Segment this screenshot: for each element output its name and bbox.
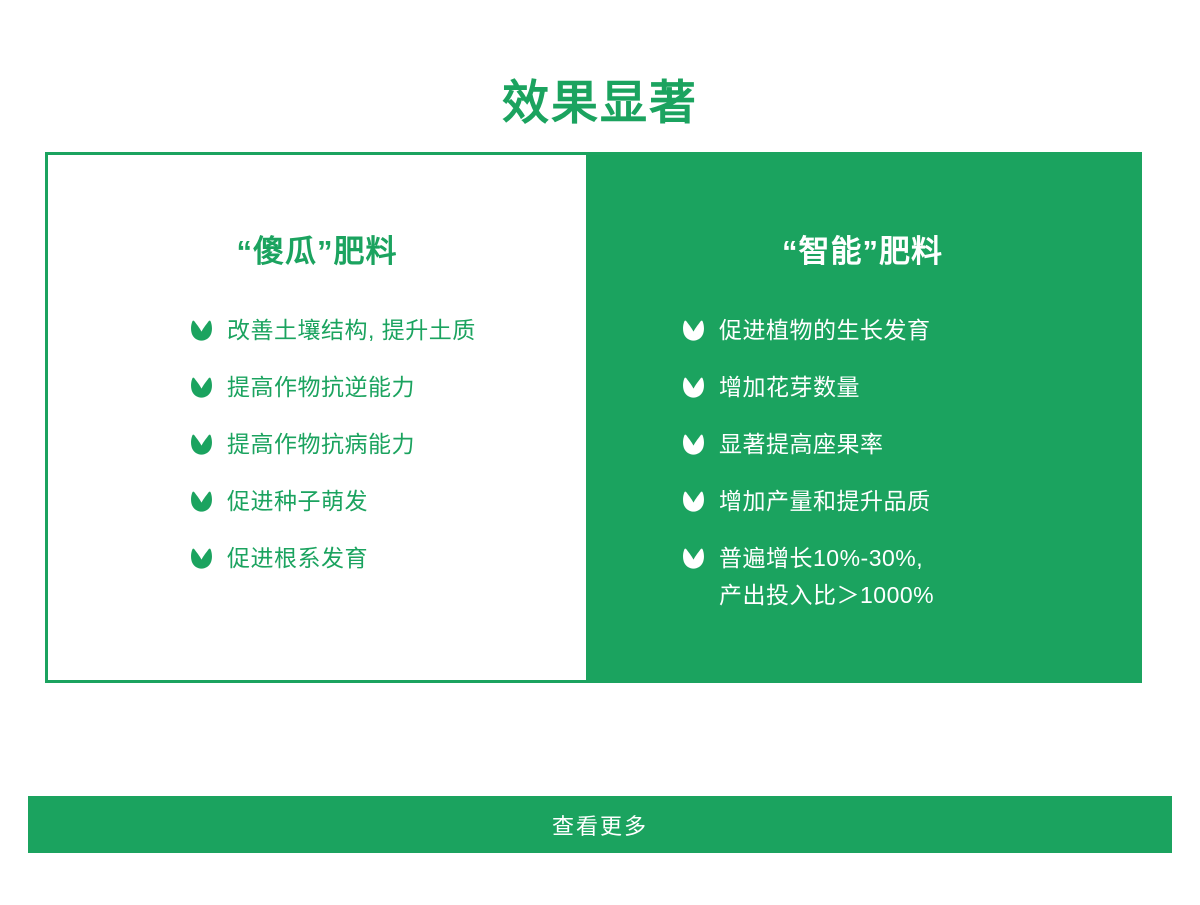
list-item: 增加产量和提升品质 xyxy=(681,483,1139,520)
leaf-icon xyxy=(189,318,214,343)
list-item: 促进根系发育 xyxy=(189,540,586,577)
leaf-icon xyxy=(189,489,214,514)
list-item-label: 提高作物抗病能力 xyxy=(227,426,415,463)
list-item-label: 提高作物抗逆能力 xyxy=(227,369,415,406)
list-item: 改善土壤结构, 提升土质 xyxy=(189,312,586,349)
list-item-label: 普遍增长10%-30%, 产出投入比＞1000% xyxy=(719,540,934,614)
left-panel-benefit-list: 改善土壤结构, 提升土质 提高作物抗逆能力 提高作物抗病能力 促进种子萌发 xyxy=(48,312,586,577)
list-item: 增加花芽数量 xyxy=(681,369,1139,406)
list-item-label: 促进植物的生长发育 xyxy=(719,312,931,349)
list-item-label: 显著提高座果率 xyxy=(719,426,884,463)
panel-smart-fertilizer: “智能”肥料 促进植物的生长发育 增加花芽数量 显著提高座果率 xyxy=(586,155,1139,680)
view-more-label: 查看更多 xyxy=(552,809,648,841)
leaf-icon xyxy=(681,432,706,457)
panel-dumb-fertilizer: “傻瓜”肥料 改善土壤结构, 提升土质 提高作物抗逆能力 提高作物抗病能力 xyxy=(48,155,586,680)
leaf-icon xyxy=(681,375,706,400)
list-item-label: 增加花芽数量 xyxy=(719,369,860,406)
list-item: 显著提高座果率 xyxy=(681,426,1139,463)
leaf-icon xyxy=(681,318,706,343)
list-item: 提高作物抗病能力 xyxy=(189,426,586,463)
right-panel-benefit-list: 促进植物的生长发育 增加花芽数量 显著提高座果率 增加产量和提升品质 xyxy=(586,312,1139,614)
leaf-icon xyxy=(189,546,214,571)
view-more-button[interactable]: 查看更多 xyxy=(28,796,1172,853)
list-item-label: 促进种子萌发 xyxy=(227,483,368,520)
leaf-icon xyxy=(189,375,214,400)
comparison-card: “傻瓜”肥料 改善土壤结构, 提升土质 提高作物抗逆能力 提高作物抗病能力 xyxy=(45,152,1142,683)
list-item-label: 促进根系发育 xyxy=(227,540,368,577)
page-title: 效果显著 xyxy=(0,77,1200,129)
leaf-icon xyxy=(189,432,214,457)
list-item-label: 增加产量和提升品质 xyxy=(719,483,931,520)
list-item-label: 改善土壤结构, 提升土质 xyxy=(227,312,476,349)
leaf-icon xyxy=(681,489,706,514)
right-panel-heading: “智能”肥料 xyxy=(586,233,1139,270)
leaf-icon xyxy=(681,546,706,571)
list-item: 促进植物的生长发育 xyxy=(681,312,1139,349)
list-item: 提高作物抗逆能力 xyxy=(189,369,586,406)
list-item: 促进种子萌发 xyxy=(189,483,586,520)
list-item: 普遍增长10%-30%, 产出投入比＞1000% xyxy=(681,540,1139,614)
left-panel-heading: “傻瓜”肥料 xyxy=(48,233,586,270)
